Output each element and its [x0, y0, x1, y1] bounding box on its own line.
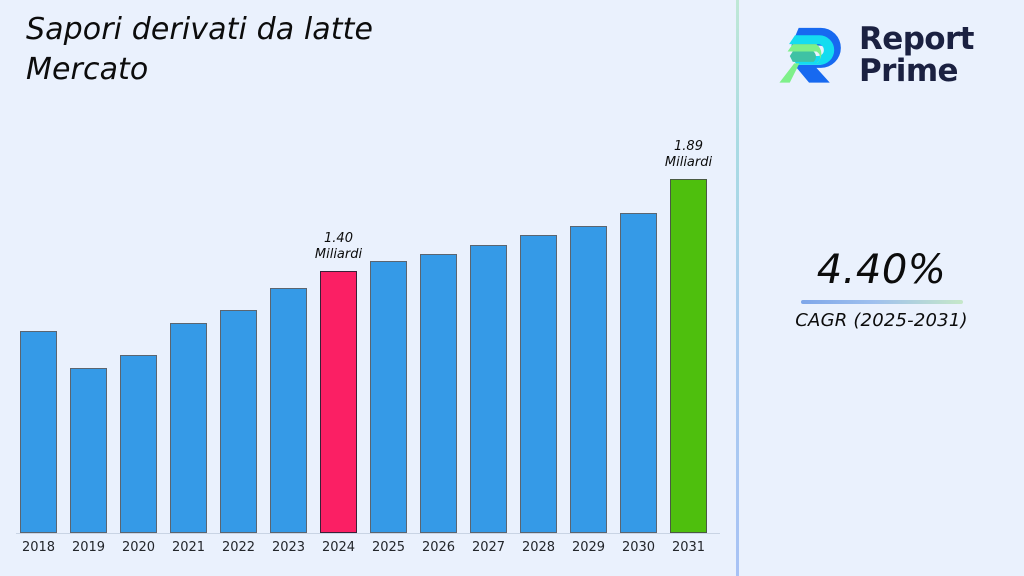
bar-2023[interactable]	[270, 288, 307, 533]
bar-2020[interactable]	[120, 355, 157, 533]
screenshot-root: Sapori derivati da latte Mercato 2018201…	[0, 0, 1024, 576]
side-panel: Report Prime 4.40% CAGR (2025-2031)	[739, 0, 1024, 576]
bar-2022[interactable]	[220, 310, 257, 533]
bar-2018[interactable]	[20, 331, 57, 533]
cagr-caption: CAGR (2025-2031)	[739, 310, 1024, 331]
x-tick-2020: 2020	[114, 540, 164, 555]
chart-panel: Sapori derivati da latte Mercato 2018201…	[0, 0, 737, 576]
report-prime-logo-icon	[775, 19, 849, 93]
bar-2021[interactable]	[170, 323, 207, 533]
x-tick-2022: 2022	[214, 540, 264, 555]
bar-2026[interactable]	[420, 254, 457, 533]
x-tick-2026: 2026	[414, 540, 464, 555]
bar-2024[interactable]	[320, 271, 357, 533]
cagr-value: 4.40%	[739, 248, 1024, 292]
bar-2027[interactable]	[470, 245, 507, 533]
x-tick-2029: 2029	[564, 540, 614, 555]
x-tick-2028: 2028	[514, 540, 564, 555]
x-tick-2031: 2031	[664, 540, 714, 555]
x-tick-2023: 2023	[264, 540, 314, 555]
bar-2025[interactable]	[370, 261, 407, 533]
bar-value-label-2031: 1.89 Miliardi	[634, 139, 744, 171]
x-tick-2027: 2027	[464, 540, 514, 555]
bar-2029[interactable]	[570, 226, 607, 533]
x-tick-2030: 2030	[614, 540, 664, 555]
bar-2028[interactable]	[520, 235, 557, 533]
bar-value-label-2024: 1.40 Miliardi	[284, 231, 394, 263]
brand-name: Report Prime	[859, 24, 974, 88]
bar-2019[interactable]	[70, 368, 107, 533]
x-tick-2019: 2019	[64, 540, 114, 555]
x-axis-line	[16, 533, 720, 534]
bar-2030[interactable]	[620, 213, 657, 533]
bar-chart-plot-area: 2018201920202021202220231.40 Miliardi202…	[0, 0, 737, 576]
brand-name-line1: Report	[859, 21, 974, 57]
cagr-block: 4.40% CAGR (2025-2031)	[739, 248, 1024, 331]
x-tick-2018: 2018	[14, 540, 64, 555]
x-tick-2021: 2021	[164, 540, 214, 555]
brand-name-line2: Prime	[859, 53, 958, 89]
bar-2031[interactable]	[670, 179, 707, 533]
x-tick-2024: 2024	[314, 540, 364, 555]
x-tick-2025: 2025	[364, 540, 414, 555]
brand-logo: Report Prime	[775, 10, 1005, 102]
cagr-divider-rule	[801, 300, 963, 304]
